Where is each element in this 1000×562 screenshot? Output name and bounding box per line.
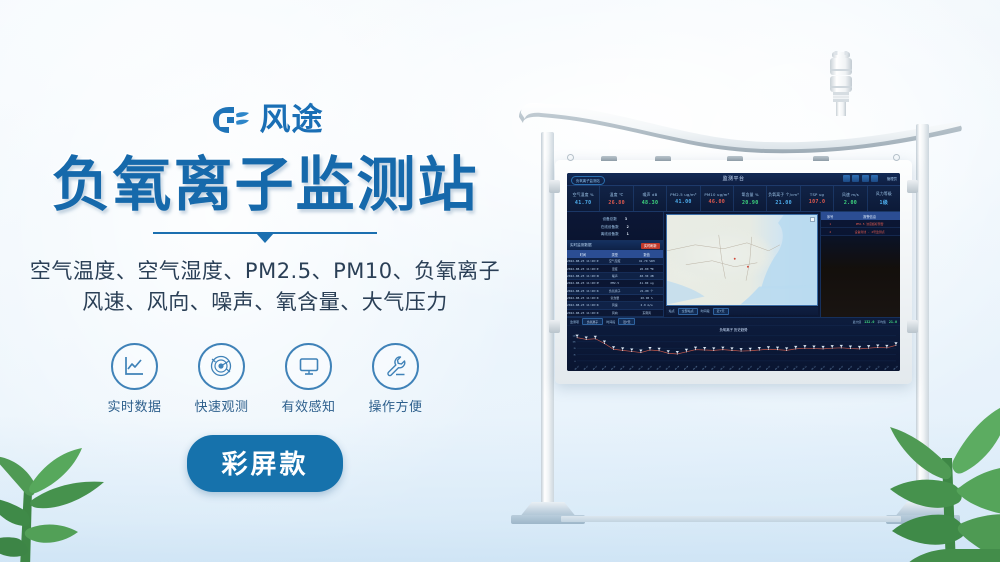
- alert-row[interactable]: 1 PM2.5 浓度超标预警: [821, 220, 900, 228]
- metric-value: 107.0: [809, 199, 826, 205]
- map-filter-label: 站点: [669, 309, 675, 313]
- map-filter-select[interactable]: 全部站点: [678, 308, 698, 315]
- ground-rail: [561, 516, 901, 522]
- stat-key: 设备总数: [603, 217, 617, 222]
- table-cell: 负氧离子: [599, 289, 631, 293]
- svg-text:08-18: 08-18: [629, 366, 634, 371]
- display-cabinet: 负氧离子监测站 监测平台 管理员 空气湿度 % 41.70 温度 ℃ 26.80…: [555, 160, 912, 384]
- stat-row: 离线设备数 1: [571, 232, 659, 237]
- metric-card[interactable]: 空气湿度 % 41.70: [567, 186, 600, 211]
- metric-card[interactable]: 风速 m/s 2.00: [834, 186, 867, 211]
- svg-text:0: 0: [575, 361, 576, 363]
- svg-text:08-18: 08-18: [620, 366, 625, 371]
- svg-text:08-22: 08-22: [775, 366, 780, 371]
- chart-legend-avg: 平均值: [877, 320, 885, 324]
- chart-plot-area[interactable]: 08-1708-1708-1708-1808-1808-1808-1808-19…: [567, 332, 900, 371]
- hero-text-column: 风途 负氧离子监测站 空气温度、空气湿度、PM2.5、PM10、负氧离子 风速、…: [0, 0, 530, 562]
- svg-text:08-23: 08-23: [811, 366, 816, 371]
- svg-text:140: 140: [572, 335, 575, 337]
- metric-label: PM2.5 ug/m³: [670, 192, 696, 197]
- metric-label: 温度 ℃: [610, 192, 624, 198]
- cabinet-tab-1: [601, 156, 617, 161]
- cabinet-tab-4: [813, 156, 829, 161]
- metric-value: 20.90: [742, 200, 759, 206]
- dashboard-body: 设备总数 3 在线设备数 2 离线设备数 1 实时监测数据: [567, 212, 900, 317]
- dashboard-title: 监测平台: [722, 175, 744, 182]
- svg-text:08-22: 08-22: [748, 366, 753, 371]
- alert-message: PM2.5 浓度超标预警: [839, 222, 900, 226]
- metric-label: 风力等级: [876, 191, 892, 197]
- column-header: 报警信息: [839, 214, 900, 219]
- column-header: 序号: [821, 214, 839, 219]
- alert-index: 1: [821, 222, 839, 226]
- chart-toolbar: 监测项 负氧离子 时间段 近7天 最大值 132.0 平均值 21.0: [567, 318, 900, 326]
- hinge-left-top: [549, 180, 560, 193]
- svg-text:08-21: 08-21: [729, 366, 734, 371]
- svg-text:08-23: 08-23: [793, 366, 798, 371]
- cabinet-ring-right: [893, 154, 900, 161]
- svg-text:08-23: 08-23: [784, 366, 789, 371]
- chart-metric-select[interactable]: 负氧离子: [582, 318, 603, 325]
- line-chart-icon: [111, 343, 158, 390]
- table-cell: 48.30 dB: [631, 274, 663, 278]
- column-header: 时间: [567, 252, 599, 257]
- left-panel: 设备总数 3 在线设备数 2 离线设备数 1 实时监测数据: [567, 212, 664, 317]
- data-table-title: 实时监测数据: [570, 243, 592, 248]
- map-borders: [667, 215, 818, 305]
- hinge-right-top: [907, 180, 918, 193]
- metric-card[interactable]: PM10 ug/m³ 46.00: [701, 186, 734, 211]
- feature-item-fast-observation[interactable]: 快速观测: [194, 343, 248, 415]
- svg-text:08-19: 08-19: [638, 366, 643, 371]
- feature-label: 操作方便: [369, 396, 423, 415]
- table-cell: 21.00 个: [631, 289, 663, 293]
- svg-text:08-17: 08-17: [584, 366, 589, 371]
- table-cell: PM2.5: [599, 281, 631, 285]
- metric-value: 41.00: [675, 199, 692, 205]
- device-stats: 设备总数 3 在线设备数 2 离线设备数 1: [567, 212, 663, 241]
- table-cell: 空气湿度: [599, 259, 631, 263]
- table-cell: 噪声: [599, 274, 631, 278]
- chart-readout-avg: 21.0: [889, 320, 897, 324]
- svg-text:08-23: 08-23: [884, 366, 889, 371]
- table-cell: 41.70 %RH: [631, 259, 663, 263]
- stat-row: 设备总数 3: [571, 217, 659, 222]
- svg-text:08-23: 08-23: [857, 366, 862, 371]
- metric-value: 2.00: [844, 200, 857, 206]
- svg-text:08-17: 08-17: [593, 366, 598, 371]
- table-row[interactable]: 2022-08-23 11:20:07空气湿度41.70 %RH: [567, 258, 663, 265]
- metric-card[interactable]: 噪声 dB 48.30: [634, 186, 667, 211]
- cabinet-tab-3: [727, 156, 743, 161]
- metric-value: 26.80: [608, 200, 625, 206]
- alerts-empty-area: [821, 236, 900, 317]
- metric-value: 48.30: [642, 200, 659, 206]
- subtitle-line-1: 空气温度、空气湿度、PM2.5、PM10、负氧离子: [30, 256, 500, 288]
- hero-subtitle: 空气温度、空气湿度、PM2.5、PM10、负氧离子 风速、风向、噪声、氧含量、大…: [30, 256, 500, 319]
- monitoring-station: 负氧离子监测站 监测平台 管理员 空气湿度 % 41.70 温度 ℃ 26.80…: [505, 40, 975, 530]
- svg-text:08-23: 08-23: [893, 366, 898, 371]
- table-row[interactable]: 2022-08-23 11:20:05PM2.541.00 ug: [567, 280, 663, 287]
- ultrasonic-weather-sensor-icon: [823, 50, 859, 118]
- table-row[interactable]: 2022-08-23 11:20:04负氧离子21.00 个: [567, 288, 663, 295]
- brand-logo-text: 风途: [260, 105, 324, 136]
- data-table-header: 时间 类型 数值: [567, 250, 663, 258]
- metric-value: 41.70: [575, 200, 592, 206]
- feature-label: 有效感知: [282, 396, 336, 415]
- feature-list: 实时数据 快速观测: [107, 343, 422, 415]
- dashboard-screen[interactable]: 负氧离子监测站 监测平台 管理员 空气湿度 % 41.70 温度 ℃ 26.80…: [567, 173, 900, 371]
- table-row[interactable]: 2022-08-23 11:20:07温度26.80 ℃: [567, 265, 663, 272]
- title-divider: [153, 230, 377, 242]
- metric-label: PM10 ug/m³: [704, 192, 729, 197]
- metric-label: 空气湿度 %: [573, 192, 594, 198]
- brand-logo: 风途: [207, 100, 324, 140]
- table-cell: 温度: [599, 267, 631, 271]
- chart-metric-label: 监测项: [570, 320, 579, 324]
- page-title: 负氧离子监测站: [51, 154, 478, 216]
- metric-card[interactable]: PM2.5 ug/m³ 41.00: [667, 186, 700, 211]
- svg-text:08-20: 08-20: [693, 366, 698, 371]
- hinge-left-bottom: [549, 320, 560, 333]
- svg-text:08-19: 08-19: [666, 366, 671, 371]
- map-range-label: 时间段: [701, 309, 710, 313]
- map-range-select[interactable]: 近7天: [713, 308, 729, 315]
- metric-label: 风速 m/s: [842, 192, 859, 198]
- dashboard-chip[interactable]: 负氧离子监测站: [571, 176, 605, 185]
- svg-text:08-21: 08-21: [711, 366, 716, 371]
- metric-value: 21.00: [775, 200, 792, 206]
- feature-label: 实时数据: [107, 396, 161, 415]
- table-cell: 2022-08-23 11:20:04: [567, 289, 599, 293]
- stat-key: 在线设备数: [601, 225, 619, 230]
- table-row[interactable]: 2022-08-23 11:20:01风向东南风: [567, 310, 663, 317]
- svg-text:08-23: 08-23: [821, 366, 826, 371]
- svg-text:08-23: 08-23: [875, 366, 880, 371]
- alerts-panel: 序号 报警信息 1 PM2.5 浓度超标预警 2 设备离线 - 2号监测点: [820, 212, 900, 317]
- model-badge[interactable]: 彩屏款: [187, 435, 342, 492]
- stat-row: 在线设备数 2: [571, 225, 659, 230]
- table-cell: 2.0 m/s: [631, 303, 663, 307]
- svg-text:08-23: 08-23: [802, 366, 807, 371]
- metric-value: 1级: [880, 199, 889, 206]
- table-row[interactable]: 2022-08-23 11:20:06噪声48.30 dB: [567, 273, 663, 280]
- stat-value: 1: [627, 232, 629, 237]
- svg-text:08-20: 08-20: [702, 366, 707, 371]
- svg-text:08-17: 08-17: [575, 366, 580, 371]
- svg-text:08-19: 08-19: [648, 366, 653, 371]
- table-cell: 风速: [599, 303, 631, 307]
- feature-label: 快速观测: [194, 396, 248, 415]
- table-cell: 2022-08-23 11:20:07: [567, 259, 599, 263]
- column-header: 类型: [599, 252, 631, 257]
- svg-text:08-23: 08-23: [830, 366, 835, 371]
- table-cell: 2022-08-23 11:20:01: [567, 311, 599, 315]
- dashboard-toolbar-icons[interactable]: [843, 175, 879, 182]
- map-zoom-control[interactable]: [810, 217, 815, 222]
- table-cell: 2022-08-23 11:20:06: [567, 274, 599, 278]
- dashboard-user-label[interactable]: 管理员: [887, 176, 897, 181]
- svg-text:105: 105: [572, 342, 575, 344]
- svg-text:70: 70: [574, 348, 576, 350]
- refresh-badge: 实时刷新: [641, 243, 660, 249]
- svg-text:08-22: 08-22: [766, 366, 771, 371]
- chart-range-label: 时间段: [606, 320, 615, 324]
- feature-item-effective-sensing[interactable]: 有效感知: [282, 343, 336, 415]
- svg-text:08-20: 08-20: [675, 366, 680, 371]
- stat-value: 2: [627, 225, 629, 230]
- metric-label: 噪声 dB: [643, 192, 658, 198]
- feature-item-realtime-data[interactable]: 实时数据: [107, 343, 161, 415]
- feature-item-easy-operation[interactable]: 操作方便: [369, 343, 423, 415]
- metric-card[interactable]: 氧含量 % 20.90: [734, 186, 767, 211]
- svg-text:08-18: 08-18: [602, 366, 607, 371]
- table-cell: 2022-08-23 11:20:02: [567, 303, 599, 307]
- table-cell: 20.90 %: [631, 296, 663, 300]
- metric-row: 空气湿度 % 41.70 温度 ℃ 26.80 噪声 dB 48.30 PM2.…: [567, 186, 900, 212]
- cabinet-tab-2: [655, 156, 671, 161]
- data-table-title-bar: 实时监测数据 实时刷新: [567, 241, 663, 250]
- hinge-right-bottom: [907, 320, 918, 333]
- wave-canopy: [515, 95, 963, 157]
- metric-card[interactable]: 负氧离子 个/cm³ 21.00: [767, 186, 800, 211]
- data-table-body[interactable]: 2022-08-23 11:20:07空气湿度41.70 %RH2022-08-…: [567, 258, 663, 317]
- stat-value: 3: [625, 217, 627, 222]
- table-cell: 41.00 ug: [631, 281, 663, 285]
- svg-text:08-21: 08-21: [720, 366, 725, 371]
- table-cell: 2022-08-23 11:20:07: [567, 267, 599, 271]
- chart-readout-max: 132.0: [864, 320, 874, 324]
- table-cell: 26.80 ℃: [631, 267, 663, 271]
- cabinet-ring-left: [567, 154, 574, 161]
- table-cell: 东南风: [631, 311, 663, 315]
- china-map[interactable]: [666, 214, 819, 306]
- map-panel: 站点 全部站点 时间段 近7天: [664, 212, 821, 317]
- history-chart-panel: 监测项 负氧离子 时间段 近7天 最大值 132.0 平均值 21.0 负氧离子…: [567, 317, 900, 371]
- svg-text:08-18: 08-18: [611, 366, 616, 371]
- fengtu-g-leaf-logo-icon: [207, 103, 251, 137]
- chart-legend-max: 最大值: [853, 320, 861, 324]
- map-toolbar: 站点 全部站点 时间段 近7天: [666, 307, 819, 315]
- table-cell: 2022-08-23 11:20:05: [567, 281, 599, 285]
- metric-card[interactable]: 风力等级 1级: [868, 186, 900, 211]
- subtitle-line-2: 风速、风向、噪声、氧含量、大气压力: [30, 287, 500, 319]
- divider-triangle-icon: [256, 233, 274, 243]
- svg-text:08-21: 08-21: [739, 366, 744, 371]
- alert-index: 2: [821, 230, 839, 234]
- wrench-icon: [372, 343, 419, 390]
- table-cell: 2022-08-23 11:20:03: [567, 296, 599, 300]
- metric-label: TSP ug: [810, 192, 824, 197]
- svg-text:08-20: 08-20: [684, 366, 689, 371]
- table-cell: 风向: [599, 311, 631, 315]
- metric-card[interactable]: TSP ug 107.0: [801, 186, 834, 211]
- table-row[interactable]: 2022-08-23 11:20:02风速2.0 m/s: [567, 302, 663, 309]
- monitor-icon: [285, 343, 332, 390]
- metric-card[interactable]: 温度 ℃ 26.80: [600, 186, 633, 211]
- alert-message: 设备离线 - 2号监测点: [839, 230, 900, 234]
- radar-scan-icon: [198, 343, 245, 390]
- dashboard-header: 负氧离子监测站 监测平台 管理员: [567, 173, 900, 186]
- table-row[interactable]: 2022-08-23 11:20:03氧含量20.90 %: [567, 295, 663, 302]
- alerts-header: 序号 报警信息: [821, 212, 900, 220]
- stat-key: 离线设备数: [601, 232, 619, 237]
- svg-text:08-23: 08-23: [839, 366, 844, 371]
- metric-label: 氧含量 %: [742, 192, 759, 198]
- svg-text:08-19: 08-19: [657, 366, 662, 371]
- chart-range-select[interactable]: 近7天: [618, 318, 635, 325]
- alert-row[interactable]: 2 设备离线 - 2号监测点: [821, 228, 900, 236]
- metric-label: 负氧离子 个/cm³: [768, 192, 799, 198]
- table-cell: 氧含量: [599, 296, 631, 300]
- svg-text:08-23: 08-23: [848, 366, 853, 371]
- svg-text:08-22: 08-22: [757, 366, 762, 371]
- column-header: 数值: [631, 252, 663, 257]
- svg-text:35: 35: [574, 354, 576, 356]
- svg-text:08-23: 08-23: [866, 366, 871, 371]
- metric-value: 46.00: [709, 199, 726, 205]
